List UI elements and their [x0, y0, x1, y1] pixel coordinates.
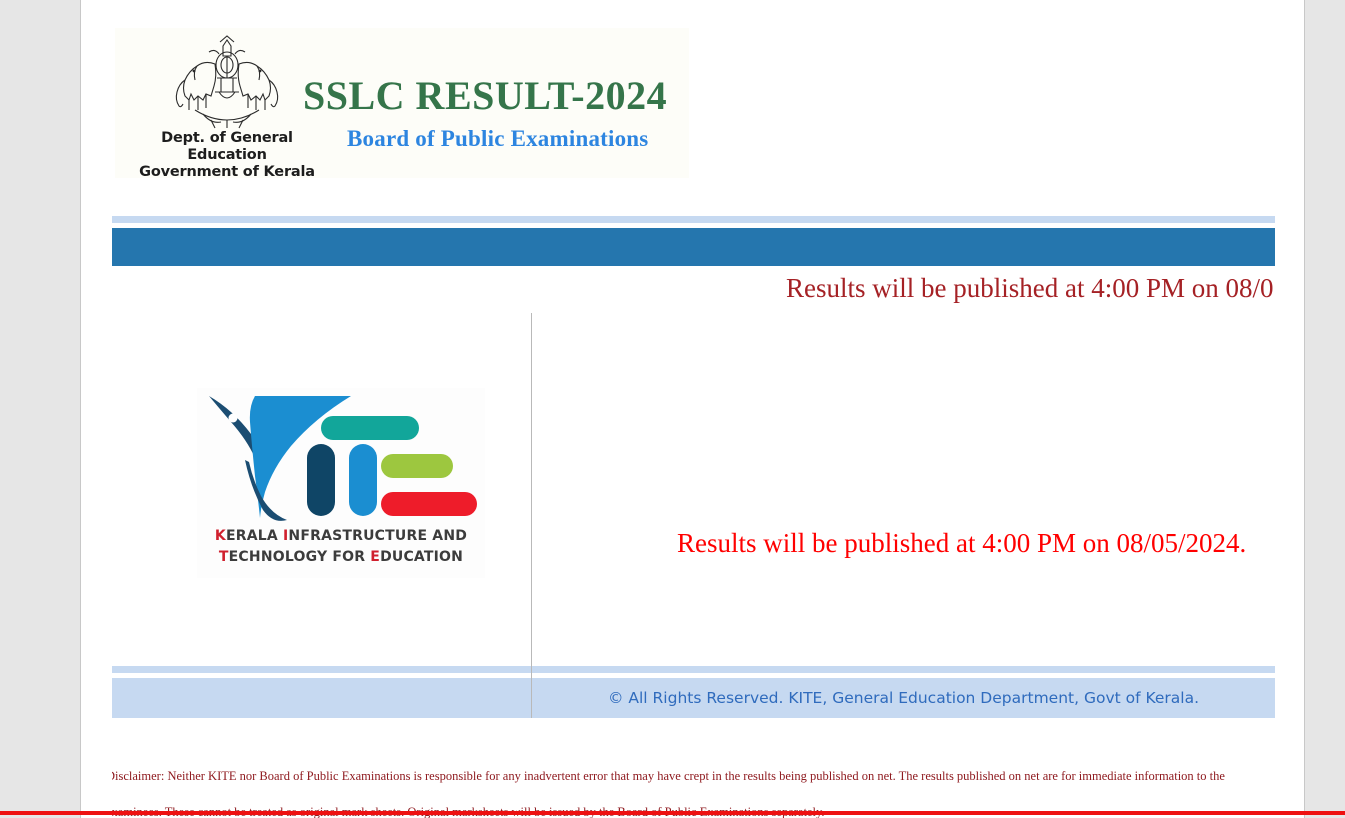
emblem-block: Dept. of General Education Government of…	[137, 34, 317, 174]
left-column: KERALA INFRASTRUCTURE AND TECHNOLOGY FOR…	[112, 313, 531, 665]
disclaimer-text: Disclaimer: Neither KITE nor Board of Pu…	[112, 758, 1275, 818]
header-banner: Dept. of General Education Government of…	[115, 28, 689, 178]
right-column: Results will be published at 4:00 PM on …	[532, 313, 1275, 665]
kite-tagline-line2: TECHNOLOGY FOR EDUCATION	[197, 547, 485, 568]
kerala-government-emblem-icon	[165, 34, 289, 130]
kite-logo-tagline: KERALA INFRASTRUCTURE AND TECHNOLOGY FOR…	[197, 526, 485, 568]
footer-bar: © All Rights Reserved. KITE, General Edu…	[112, 678, 1275, 718]
emblem-caption-line2: Government of Kerala	[137, 164, 317, 178]
kite-logo-mark-icon	[203, 388, 479, 526]
footer-copyright: © All Rights Reserved. KITE, General Edu…	[532, 678, 1275, 718]
kite-tagline-line1: KERALA INFRASTRUCTURE AND	[197, 526, 485, 547]
marquee-notice: Results will be published at 4:00 PM on …	[112, 270, 1275, 306]
banner-subtitle: Board of Public Examinations	[347, 126, 648, 152]
marquee-text: Results will be published at 4:00 PM on …	[786, 270, 1275, 306]
kite-logo: KERALA INFRASTRUCTURE AND TECHNOLOGY FOR…	[197, 388, 485, 578]
navigation-bar[interactable]	[112, 228, 1275, 266]
emblem-caption: Dept. of General Education Government of…	[137, 130, 317, 178]
content-container: Dept. of General Education Government of…	[112, 0, 1275, 818]
banner-title: SSLC RESULT-2024	[303, 72, 667, 119]
page-sheet: Dept. of General Education Government of…	[80, 0, 1305, 818]
nav-accent-bar	[112, 216, 1275, 223]
emblem-caption-line1: Dept. of General Education	[137, 130, 317, 164]
footer-accent-bar	[112, 666, 1275, 673]
main-body: KERALA INFRASTRUCTURE AND TECHNOLOGY FOR…	[112, 313, 1275, 665]
footer-column-divider	[531, 666, 532, 718]
result-message: Results will be published at 4:00 PM on …	[677, 528, 1246, 559]
bottom-red-rule	[0, 811, 1345, 815]
